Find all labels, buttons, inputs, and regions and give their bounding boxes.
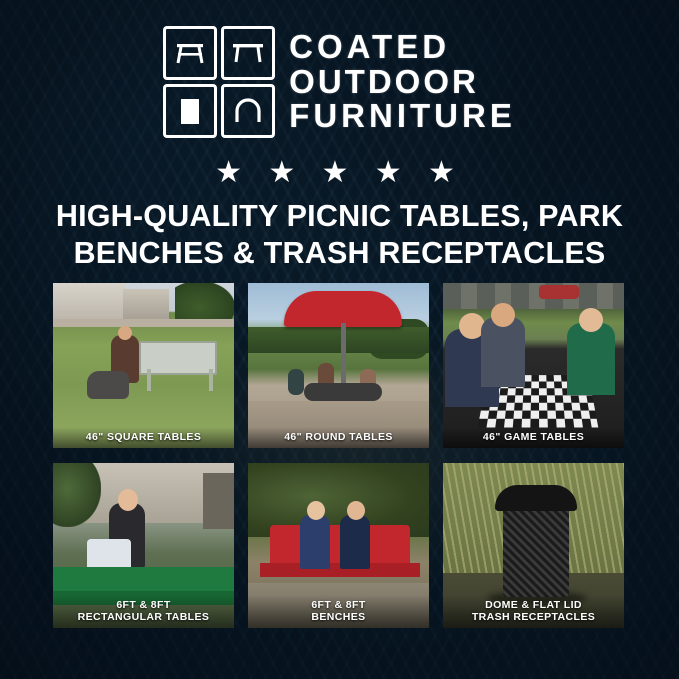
photo-game-table-checkerboard [443,283,624,448]
headline-line-1: HIGH-QUALITY PICNIC TABLES, PARK [30,198,649,235]
gallery-item-trash-receptacles[interactable]: DOME & FLAT LID TRASH RECEPTACLES [443,463,624,628]
logo-cell-trash-can [163,84,217,138]
gallery-item-benches[interactable]: 6FT & 8FT BENCHES [248,463,429,628]
caption-rectangular-tables-line-1: 6FT & 8FT [55,599,232,611]
photo-round-table-umbrella [248,283,429,448]
logo-cell-table-a [163,26,217,80]
gallery-item-rectangular-tables[interactable]: 6FT & 8FT RECTANGULAR TABLES [53,463,234,628]
headline-line-2: BENCHES & TRASH RECEPTACLES [30,235,649,272]
brand-name-line-1: COATED [289,30,516,65]
brand-name-line-3: FURNITURE [289,99,516,134]
caption-rectangular-tables-line-2: RECTANGULAR TABLES [55,611,232,623]
caption-trash-receptacles-line-2: TRASH RECEPTACLES [445,611,622,623]
caption-benches-line-1: 6FT & 8FT [250,599,427,611]
logo-cell-table-b [221,26,275,80]
photo-square-table [53,283,234,448]
page-title: HIGH-QUALITY PICNIC TABLES, PARK BENCHES… [30,198,649,272]
poster-content: COATED OUTDOOR FURNITURE ★ ★ ★ ★ ★ HIGH-… [0,0,679,679]
caption-rectangular-tables: 6FT & 8FT RECTANGULAR TABLES [53,595,234,628]
gallery-item-square-tables[interactable]: 46" SQUARE TABLES [53,283,234,448]
caption-trash-receptacles-line-1: DOME & FLAT LID [445,599,622,611]
gallery-item-game-tables[interactable]: 46" GAME TABLES [443,283,624,448]
brand-wordmark: COATED OUTDOOR FURNITURE [289,30,516,135]
star-rating: ★ ★ ★ ★ ★ [0,155,679,190]
caption-round-tables: 46" ROUND TABLES [248,427,429,448]
brand-logo: COATED OUTDOOR FURNITURE [0,22,679,142]
logo-cell-dome-lid [221,84,275,138]
product-poster: COATED OUTDOOR FURNITURE ★ ★ ★ ★ ★ HIGH-… [0,0,679,679]
picnic-table-logo-icon [163,26,275,138]
caption-trash-receptacles: DOME & FLAT LID TRASH RECEPTACLES [443,595,624,628]
product-gallery: 46" SQUARE TABLES 46" ROUND TABLES [53,283,626,628]
brand-name-line-2: OUTDOOR [289,65,516,100]
caption-benches: 6FT & 8FT BENCHES [248,595,429,628]
gallery-item-round-tables[interactable]: 46" ROUND TABLES [248,283,429,448]
caption-benches-line-2: BENCHES [250,611,427,623]
caption-square-tables: 46" SQUARE TABLES [53,427,234,448]
caption-game-tables: 46" GAME TABLES [443,427,624,448]
